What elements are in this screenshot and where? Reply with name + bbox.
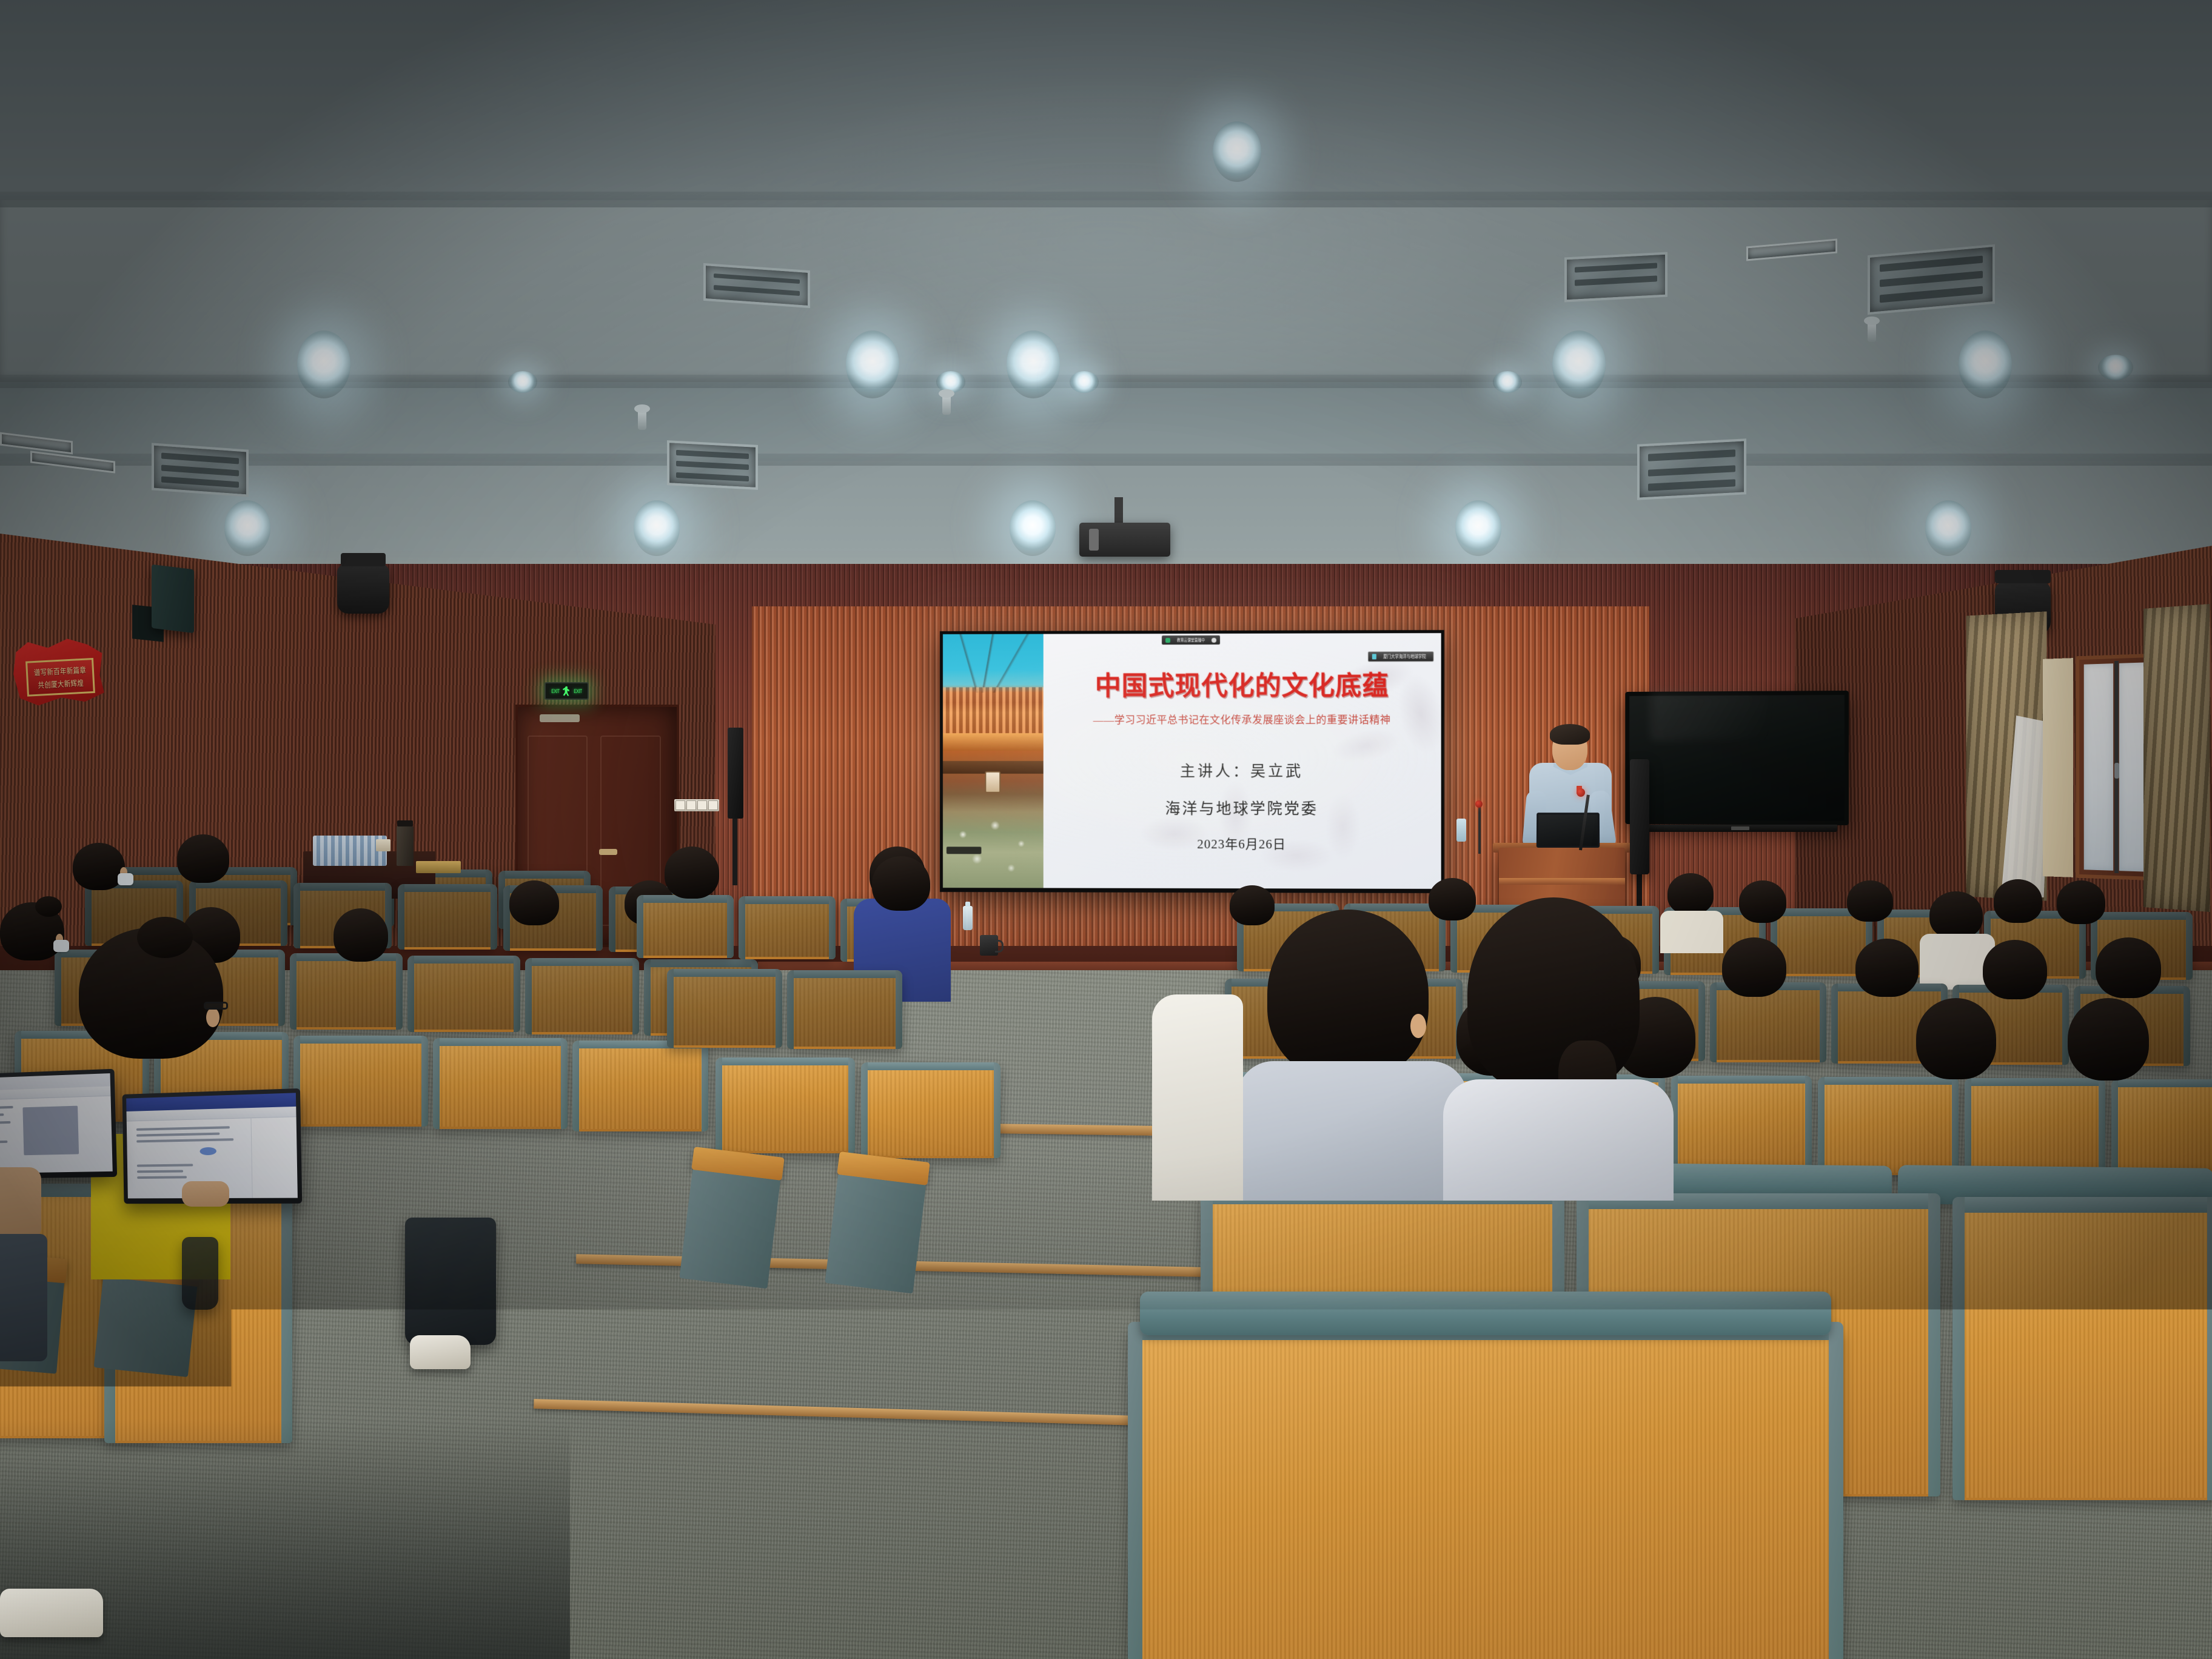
audience-member bbox=[509, 880, 561, 931]
auditorium-seat[interactable] bbox=[667, 969, 782, 1048]
auditorium-seat[interactable] bbox=[1671, 1076, 1812, 1174]
wall-mounted-display[interactable] bbox=[1625, 691, 1849, 825]
auditorium-seat[interactable] bbox=[398, 884, 497, 950]
speaker-stand-pole bbox=[732, 819, 737, 885]
audience-member bbox=[0, 902, 67, 969]
audience-member bbox=[1847, 880, 1895, 927]
audience-member bbox=[1855, 939, 1921, 1003]
plaque-inner-panel: 谱写新百年新篇章 共创厦大新辉煌 bbox=[25, 658, 95, 697]
sprinkler-head-icon bbox=[638, 409, 646, 430]
floor-standing-speaker bbox=[728, 728, 743, 819]
ceiling-downlight bbox=[1552, 330, 1606, 398]
audience-member bbox=[1667, 873, 1716, 918]
audience-member bbox=[1929, 891, 1988, 988]
slide-subtitle: ——学习习近平总书记在文化传承发展座谈会上的重要讲话精神 bbox=[1093, 711, 1391, 726]
ceiling-spotlight-cluster bbox=[337, 564, 389, 614]
ceiling-air-vent bbox=[1868, 244, 1995, 315]
outlet-socket bbox=[675, 800, 685, 810]
projector-lens-icon bbox=[1089, 529, 1099, 551]
projector-mount bbox=[1114, 497, 1123, 525]
audience-member bbox=[2096, 937, 2163, 1004]
ceiling-air-vent bbox=[1637, 438, 1746, 500]
audience-member bbox=[1722, 937, 1789, 1003]
wall-mounted-speaker bbox=[152, 565, 194, 634]
auditorium-seat[interactable] bbox=[716, 1057, 855, 1153]
sprinkler-head-icon bbox=[1868, 321, 1876, 342]
audience-member bbox=[0, 1167, 42, 1361]
audience-member bbox=[79, 928, 230, 1073]
ceiling-air-vent bbox=[1564, 252, 1667, 303]
seat-support-leg bbox=[825, 1175, 926, 1293]
paper-cup bbox=[376, 839, 390, 851]
backpack-on-floor bbox=[405, 1218, 496, 1345]
auxiliary-microphone-head bbox=[1475, 800, 1483, 808]
auditorium-seat[interactable] bbox=[1818, 1077, 1959, 1175]
ceiling-upper-slab bbox=[0, 0, 2212, 200]
emergency-exit-sign: EXIT EXIT bbox=[545, 682, 589, 700]
slide-text-body: 中国式现代化的文化底蕴 ——学习习近平总书记在文化传承发展座谈会上的重要讲话精神… bbox=[1044, 633, 1441, 889]
audience-member bbox=[177, 834, 233, 889]
window-pane-left bbox=[2084, 663, 2114, 871]
plaque-line-1: 谱写新百年新篇章 bbox=[33, 664, 86, 678]
ceiling-downlight bbox=[1925, 500, 1971, 556]
audience-member bbox=[2068, 998, 2151, 1088]
auditorium-seat[interactable] bbox=[1965, 1078, 2105, 1176]
ceiling-air-vent bbox=[667, 440, 758, 490]
slide-date-line: 2023年6月26日 bbox=[1197, 834, 1286, 853]
seat-headrest-pad bbox=[1140, 1292, 1831, 1335]
exit-sign-label-left: EXIT bbox=[552, 688, 560, 694]
presenter-laptop[interactable] bbox=[1537, 813, 1600, 848]
lecture-hall-photo: 谱写新百年新篇章 共创厦大新辉煌 EXIT EXIT bbox=[0, 0, 2212, 1659]
slide-title: 中国式现代化的文化底蕴 bbox=[1095, 665, 1389, 703]
ceiling-downlight bbox=[846, 330, 899, 398]
wall-banner-plaque: 谱写新百年新篇章 共创厦大新辉煌 bbox=[12, 635, 105, 708]
photo-tree-branches bbox=[943, 634, 1044, 693]
window-curtain-right bbox=[2143, 604, 2210, 912]
ceiling-downlight bbox=[1213, 121, 1261, 182]
audience-member bbox=[1983, 940, 2049, 1005]
water-bottle bbox=[963, 906, 973, 930]
audience-member bbox=[1916, 998, 1999, 1087]
ceiling-downlight bbox=[1959, 330, 2012, 398]
audience-hand bbox=[182, 1181, 230, 1209]
ceiling-air-vent bbox=[152, 443, 249, 497]
audience-member bbox=[2057, 880, 2108, 929]
door-closer bbox=[540, 714, 580, 722]
auditorium-seat[interactable] bbox=[407, 956, 520, 1032]
ceiling-downlight bbox=[1007, 330, 1060, 398]
ceiling-soffit-lower bbox=[0, 454, 2212, 466]
photo-roof-eave bbox=[943, 733, 1044, 751]
auditorium-seat[interactable] bbox=[861, 1062, 1000, 1158]
audience-member bbox=[1467, 897, 1643, 1201]
ceiling-air-vent bbox=[703, 263, 810, 308]
projection-screen: 教育云课堂直播中 厦门大学海洋与地球学院 中国式现代化的文化底蕴 ——学习习近平… bbox=[940, 630, 1444, 893]
exit-sign-label-right: EXIT bbox=[574, 688, 582, 694]
auditorium-seat[interactable] bbox=[293, 1036, 428, 1127]
podium-trim-band bbox=[1499, 878, 1625, 885]
audience-member bbox=[1267, 910, 1431, 1195]
presenter-hair bbox=[1550, 724, 1590, 745]
ceiling-downlight bbox=[224, 500, 270, 556]
audience-member bbox=[73, 843, 129, 897]
shoe bbox=[410, 1335, 471, 1369]
outlet-socket bbox=[697, 800, 707, 810]
ceiling-downlight bbox=[297, 330, 350, 398]
wall-power-outlets[interactable] bbox=[674, 799, 719, 811]
serving-tray bbox=[416, 861, 461, 873]
ceiling-soffit-upper bbox=[0, 192, 2212, 207]
auditorium-seat[interactable] bbox=[1952, 1197, 2212, 1500]
slide-photo-strip bbox=[943, 634, 1044, 888]
window-reveal-wall bbox=[2043, 658, 2073, 877]
auditorium-seat[interactable] bbox=[433, 1038, 568, 1129]
ceiling-downlight bbox=[1455, 500, 1501, 556]
auditorium-seat[interactable] bbox=[572, 1041, 708, 1131]
outlet-socket bbox=[708, 800, 718, 810]
coffee-mug bbox=[980, 935, 998, 956]
shoe bbox=[0, 1589, 103, 1637]
laptop-screen bbox=[0, 1073, 113, 1174]
podium-microphone-head bbox=[1577, 788, 1585, 797]
auxiliary-microphone-stem bbox=[1478, 805, 1481, 854]
ceiling-downlight bbox=[508, 371, 537, 393]
thermos-flask bbox=[397, 826, 414, 866]
backpack-on-floor bbox=[182, 1237, 218, 1310]
running-person-icon bbox=[563, 686, 571, 696]
auditorium-seat[interactable] bbox=[525, 958, 639, 1034]
auditorium-seat-foreground[interactable] bbox=[1128, 1322, 1843, 1659]
photo-roof-tiles bbox=[943, 688, 1044, 733]
auditorium-seat[interactable] bbox=[739, 896, 836, 959]
slide-organization-line: 海洋与地球学院党委 bbox=[1165, 797, 1318, 819]
window-handle[interactable] bbox=[2114, 763, 2119, 779]
audience-laptop[interactable] bbox=[0, 1069, 117, 1179]
ceiling-downlight bbox=[1493, 371, 1522, 393]
audience-member bbox=[665, 846, 722, 905]
auditorium-seat[interactable] bbox=[787, 970, 902, 1049]
ceiling-downlight bbox=[2098, 355, 2133, 380]
photo-lantern-icon bbox=[985, 771, 1001, 793]
ceiling-downlight bbox=[1070, 371, 1099, 393]
audience-member bbox=[333, 908, 390, 969]
ceiling-downlight bbox=[1010, 500, 1056, 556]
outlet-socket bbox=[686, 800, 696, 810]
plaque-line-2: 共创厦大新辉煌 bbox=[38, 677, 84, 691]
sprinkler-head-icon bbox=[942, 394, 951, 415]
auditorium-seat[interactable] bbox=[2111, 1079, 2212, 1178]
audience-member bbox=[1152, 994, 1243, 1201]
ceiling-band-three bbox=[0, 461, 2212, 576]
podium-water-bottle bbox=[1456, 819, 1466, 842]
display-brand-logo bbox=[1731, 826, 1749, 830]
slide-presenter-line: 主讲人：吴立武 bbox=[1180, 759, 1303, 781]
app-side-pane bbox=[250, 1117, 298, 1198]
ceiling-downlight bbox=[634, 500, 680, 556]
seat-support-leg bbox=[679, 1170, 780, 1289]
stage-pa-speaker bbox=[1630, 759, 1649, 874]
presentation-slide: 教育云课堂直播中 厦门大学海洋与地球学院 中国式现代化的文化底蕴 ——学习习近平… bbox=[943, 633, 1441, 889]
audience-member bbox=[1739, 880, 1789, 928]
photo-overlay-tag bbox=[947, 846, 982, 854]
door-handle[interactable] bbox=[599, 849, 617, 855]
audience-member bbox=[1994, 879, 2045, 928]
